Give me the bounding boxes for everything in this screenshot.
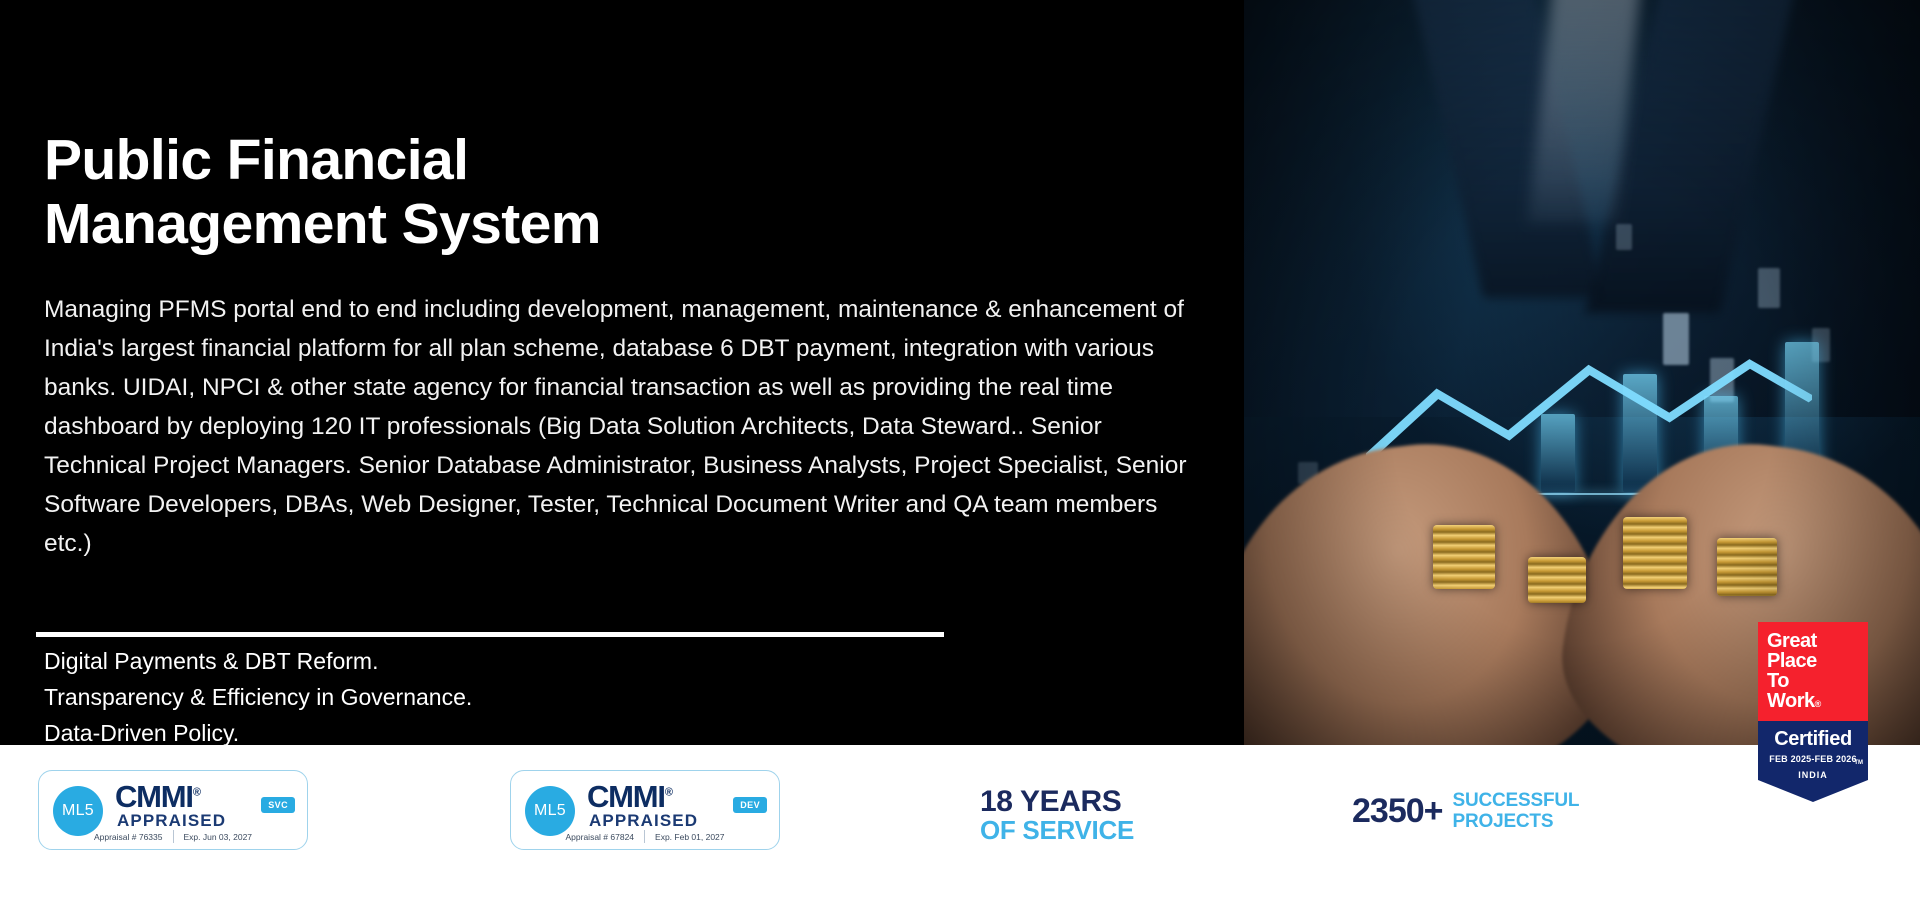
cmmi-subtitle: APPRAISED xyxy=(117,811,226,831)
tagline-item: Transparency & Efficiency in Governance. xyxy=(44,679,944,715)
cmmi-badge-svc: ML5 CMMI® APPRAISED SVC Appraisal # 7633… xyxy=(38,770,308,850)
cmmi-discipline-tag: DEV xyxy=(733,797,767,813)
projects-label-line1: SUCCESSFUL xyxy=(1453,790,1580,811)
years-value: 18 YEARS xyxy=(980,787,1134,817)
tagline-item: Digital Payments & DBT Reform. xyxy=(44,643,944,679)
tagline-list: Digital Payments & DBT Reform. Transpare… xyxy=(44,643,944,751)
years-of-service-stat: 18 YEARS OF SERVICE xyxy=(980,787,1134,843)
cmmi-discipline-tag: SVC xyxy=(261,797,295,813)
gptw-line-1: Great xyxy=(1767,631,1859,651)
content-panel: Public Financial Management System Manag… xyxy=(0,0,1244,745)
divider-icon xyxy=(173,830,174,843)
projects-label-line2: PROJECTS xyxy=(1453,811,1580,832)
gptw-line-3: To xyxy=(1767,671,1859,691)
projects-count: 2350+ xyxy=(1352,792,1443,831)
cmmi-expiry: Exp. Feb 01, 2027 xyxy=(655,832,724,842)
presentation-slide: Public Financial Management System Manag… xyxy=(0,0,1920,900)
projects-stat: 2350+ SUCCESSFUL PROJECTS xyxy=(1352,790,1579,832)
trademark-icon: TM xyxy=(1854,760,1863,766)
great-place-to-work-badge: Great Place To Work® Certified FEB 2025-… xyxy=(1758,622,1868,802)
registered-icon: ® xyxy=(665,787,673,799)
divider-icon xyxy=(644,830,645,843)
cmmi-footer: Appraisal # 67824 Exp. Feb 01, 2027 xyxy=(511,830,779,843)
projects-label: SUCCESSFUL PROJECTS xyxy=(1453,790,1580,832)
cmmi-brand: CMMI xyxy=(115,779,193,814)
cmmi-maturity-level: ML5 xyxy=(53,786,103,836)
body-paragraph: Managing PFMS portal end to end includin… xyxy=(44,290,1204,563)
cmmi-maturity-level: ML5 xyxy=(525,786,575,836)
page-title: Public Financial Management System xyxy=(44,128,804,257)
certification-bar: ML5 CMMI® APPRAISED SVC Appraisal # 7633… xyxy=(0,745,1920,900)
cmmi-wordmark: CMMI® xyxy=(115,779,201,815)
gptw-certified-label: Certified xyxy=(1764,728,1862,751)
gptw-red-panel: Great Place To Work® xyxy=(1758,622,1868,721)
gptw-work-text: Work xyxy=(1767,690,1815,712)
gptw-ribbon-point xyxy=(1758,780,1868,802)
horizontal-divider xyxy=(36,632,944,637)
registered-icon: ® xyxy=(1815,699,1821,709)
registered-icon: ® xyxy=(193,787,201,799)
cmmi-badge-dev: ML5 CMMI® APPRAISED DEV Appraisal # 6782… xyxy=(510,770,780,850)
cmmi-expiry: Exp. Jun 03, 2027 xyxy=(184,832,253,842)
gptw-line-4: Work® xyxy=(1767,691,1859,714)
gptw-blue-panel: Certified FEB 2025-FEB 2026 INDIA TM xyxy=(1758,721,1868,780)
cmmi-subtitle: APPRAISED xyxy=(589,811,698,831)
cmmi-brand: CMMI xyxy=(587,779,665,814)
cmmi-footer: Appraisal # 76335 Exp. Jun 03, 2027 xyxy=(39,830,307,843)
gptw-certification-dates: FEB 2025-FEB 2026 xyxy=(1764,754,1862,764)
cmmi-wordmark: CMMI® xyxy=(587,779,673,815)
gptw-country: INDIA xyxy=(1764,770,1862,780)
cmmi-appraisal-number: Appraisal # 67824 xyxy=(566,832,635,842)
years-label: OF SERVICE xyxy=(980,817,1134,843)
cmmi-appraisal-number: Appraisal # 76335 xyxy=(94,832,163,842)
gptw-line-2: Place xyxy=(1767,651,1859,671)
